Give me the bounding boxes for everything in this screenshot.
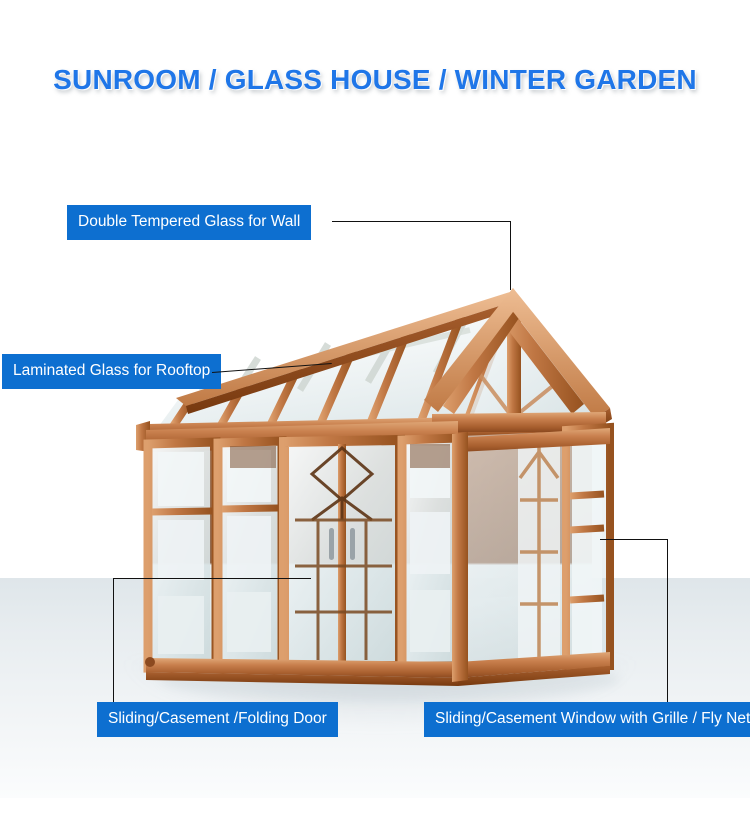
leader-line-wall-horizontal [332,221,511,222]
right-elevation [452,427,610,686]
callout-label-door[interactable]: Sliding/Casement /Folding Door [97,702,338,737]
callout-label-roof[interactable]: Laminated Glass for Rooftop [2,354,221,389]
front-french-doors [284,440,400,666]
door-floor-stop [145,657,155,667]
front-left-window-bay [148,442,216,668]
door-meeting-stile [338,444,346,664]
leader-line-door-vertical [113,578,114,702]
callout-label-wall[interactable]: Double Tempered Glass for Wall [67,205,311,240]
screenshot-canvas: SUNROOM / GLASS HOUSE / WINTER GARDEN Do… [0,0,750,819]
leader-line-window-horizontal [600,539,668,540]
callout-label-window[interactable]: Sliding/Casement Window with Grille / Fl… [424,702,750,737]
page-title: SUNROOM / GLASS HOUSE / WINTER GARDEN [0,64,750,96]
corner-post [452,432,468,682]
front-right-window-bay [402,438,458,666]
leader-line-door-horizontal [113,578,311,579]
leader-line-window-vertical [667,539,668,702]
front-second-window-bay [218,441,282,667]
right-end-window [518,440,560,662]
leader-line-wall-vertical [510,221,511,290]
